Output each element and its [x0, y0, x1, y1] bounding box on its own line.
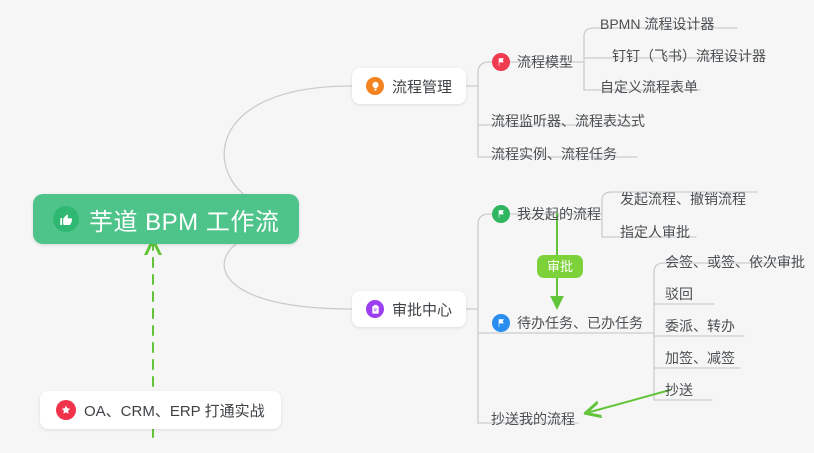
node-label: 发起流程、撤销流程 — [620, 189, 746, 209]
root-label: 芋道 BPM 工作流 — [89, 202, 279, 237]
annotation-approval-chip: 审批 — [537, 255, 583, 278]
node-label: 抄送我的流程 — [491, 409, 575, 429]
arrow-cc-to-cc-to-me — [590, 390, 670, 412]
node-label: 待办任务、已办任务 — [517, 313, 643, 333]
node-label: 流程实例、流程任务 — [491, 144, 617, 164]
flag-icon — [492, 314, 510, 332]
node-label: 流程监听器、流程表达式 — [491, 111, 645, 131]
flag-icon — [492, 205, 510, 223]
node-countersign[interactable]: 会签、或签、依次审批 — [665, 249, 805, 275]
branch-label: 流程管理 — [392, 76, 452, 97]
node-label: BPMN 流程设计器 — [600, 14, 714, 34]
node-reject[interactable]: 驳回 — [665, 281, 693, 307]
node-label: 流程模型 — [517, 52, 573, 72]
node-delegate-transfer[interactable]: 委派、转办 — [665, 313, 735, 339]
node-label: 抄送 — [665, 380, 693, 400]
mindmap-canvas: 芋道 BPM 工作流 流程管理 流程模型 BPMN 流程设计器 钉钉（飞书）流程… — [0, 0, 814, 453]
node-assignee-approval[interactable]: 指定人审批 — [620, 219, 690, 245]
node-my-initiated[interactable]: 我发起的流程 — [492, 201, 601, 227]
node-carbon-copy[interactable]: 抄送 — [665, 377, 693, 403]
clipboard-icon — [366, 300, 384, 318]
node-todo-done-tasks[interactable]: 待办任务、已办任务 — [492, 310, 643, 336]
note-integration[interactable]: OA、CRM、ERP 打通实战 — [40, 391, 281, 429]
edge-root-to-process-management — [224, 86, 352, 208]
node-process-model[interactable]: 流程模型 — [492, 49, 573, 75]
node-cc-to-me[interactable]: 抄送我的流程 — [491, 406, 575, 432]
note-label: OA、CRM、ERP 打通实战 — [84, 400, 265, 421]
node-label: 会签、或签、依次审批 — [665, 252, 805, 272]
node-label: 委派、转办 — [665, 316, 735, 336]
node-dingtalk-designer[interactable]: 钉钉（飞书）流程设计器 — [612, 43, 766, 69]
node-label: 加签、减签 — [665, 348, 735, 368]
node-label: 指定人审批 — [620, 222, 690, 242]
branch-label: 审批中心 — [392, 299, 452, 320]
thumbs-up-icon — [53, 206, 79, 232]
node-label: 自定义流程表单 — [600, 77, 698, 97]
node-label: 钉钉（飞书）流程设计器 — [612, 46, 766, 66]
node-label: 驳回 — [665, 284, 693, 304]
node-bpmn-designer[interactable]: BPMN 流程设计器 — [600, 11, 714, 37]
flag-icon — [492, 53, 510, 71]
node-process-listener[interactable]: 流程监听器、流程表达式 — [491, 108, 645, 134]
branch-process-management[interactable]: 流程管理 — [352, 68, 466, 104]
node-add-remove-sign[interactable]: 加签、减签 — [665, 345, 735, 371]
star-icon — [56, 400, 76, 420]
branch-approval-center[interactable]: 审批中心 — [352, 291, 466, 327]
node-start-cancel-process[interactable]: 发起流程、撤销流程 — [620, 186, 746, 212]
root-node[interactable]: 芋道 BPM 工作流 — [33, 194, 299, 244]
node-custom-form[interactable]: 自定义流程表单 — [600, 74, 698, 100]
node-label: 我发起的流程 — [517, 204, 601, 224]
node-process-instance[interactable]: 流程实例、流程任务 — [491, 141, 617, 167]
lightbulb-icon — [366, 77, 384, 95]
